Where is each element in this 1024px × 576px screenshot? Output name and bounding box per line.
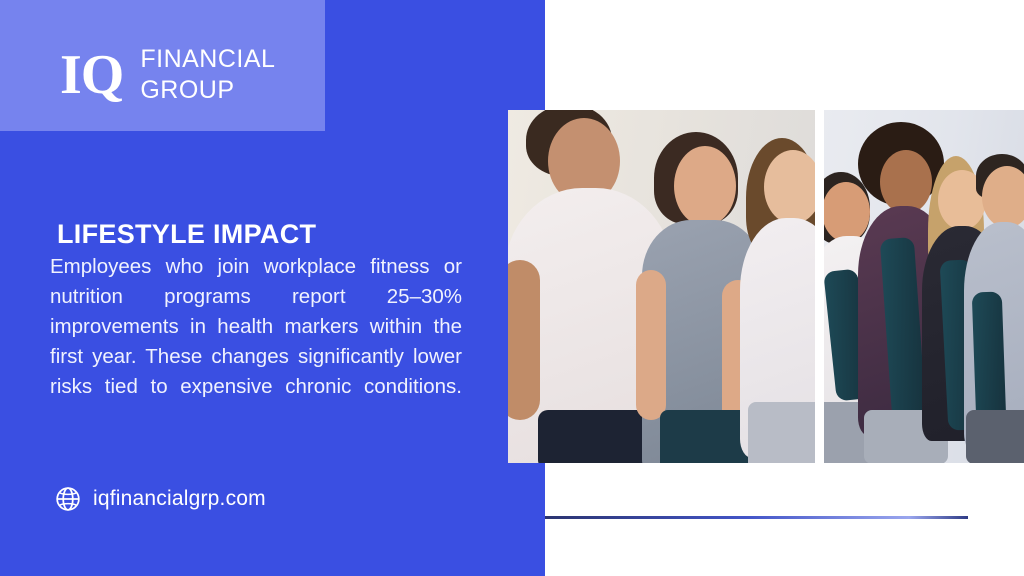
brand-logo[interactable]: IQ FINANCIAL GROUP [60, 44, 275, 107]
logo-band: IQ FINANCIAL GROUP [0, 0, 325, 131]
logo-monogram: IQ [60, 49, 123, 102]
person-head [764, 150, 815, 224]
person-head [824, 182, 870, 242]
person-pants [966, 410, 1024, 463]
globe-icon [55, 486, 81, 512]
person-pants [748, 402, 815, 463]
logo-word-line2: GROUP [140, 75, 275, 106]
logo-wordmark: FINANCIAL GROUP [140, 44, 275, 107]
page-title: LIFESTYLE IMPACT [57, 219, 316, 250]
website-url[interactable]: iqfinancialgrp.com [93, 487, 266, 511]
person-head [982, 166, 1024, 228]
logo-word-line1: FINANCIAL [140, 44, 275, 75]
person-head [674, 146, 736, 226]
photo-group-fitness-wall [508, 110, 815, 463]
yoga-mat [972, 292, 1007, 423]
divider-rule [545, 516, 968, 519]
slide-canvas: IQ FINANCIAL GROUP LIFESTYLE IMPACT Empl… [0, 0, 1024, 576]
person-arm [508, 260, 540, 420]
person-head [880, 150, 932, 214]
body-paragraph: Employees who join workplace fitness or … [50, 252, 462, 432]
website-row[interactable]: iqfinancialgrp.com [55, 486, 266, 512]
photo-group-yoga-mats [824, 110, 1024, 463]
person-arm [636, 270, 666, 420]
